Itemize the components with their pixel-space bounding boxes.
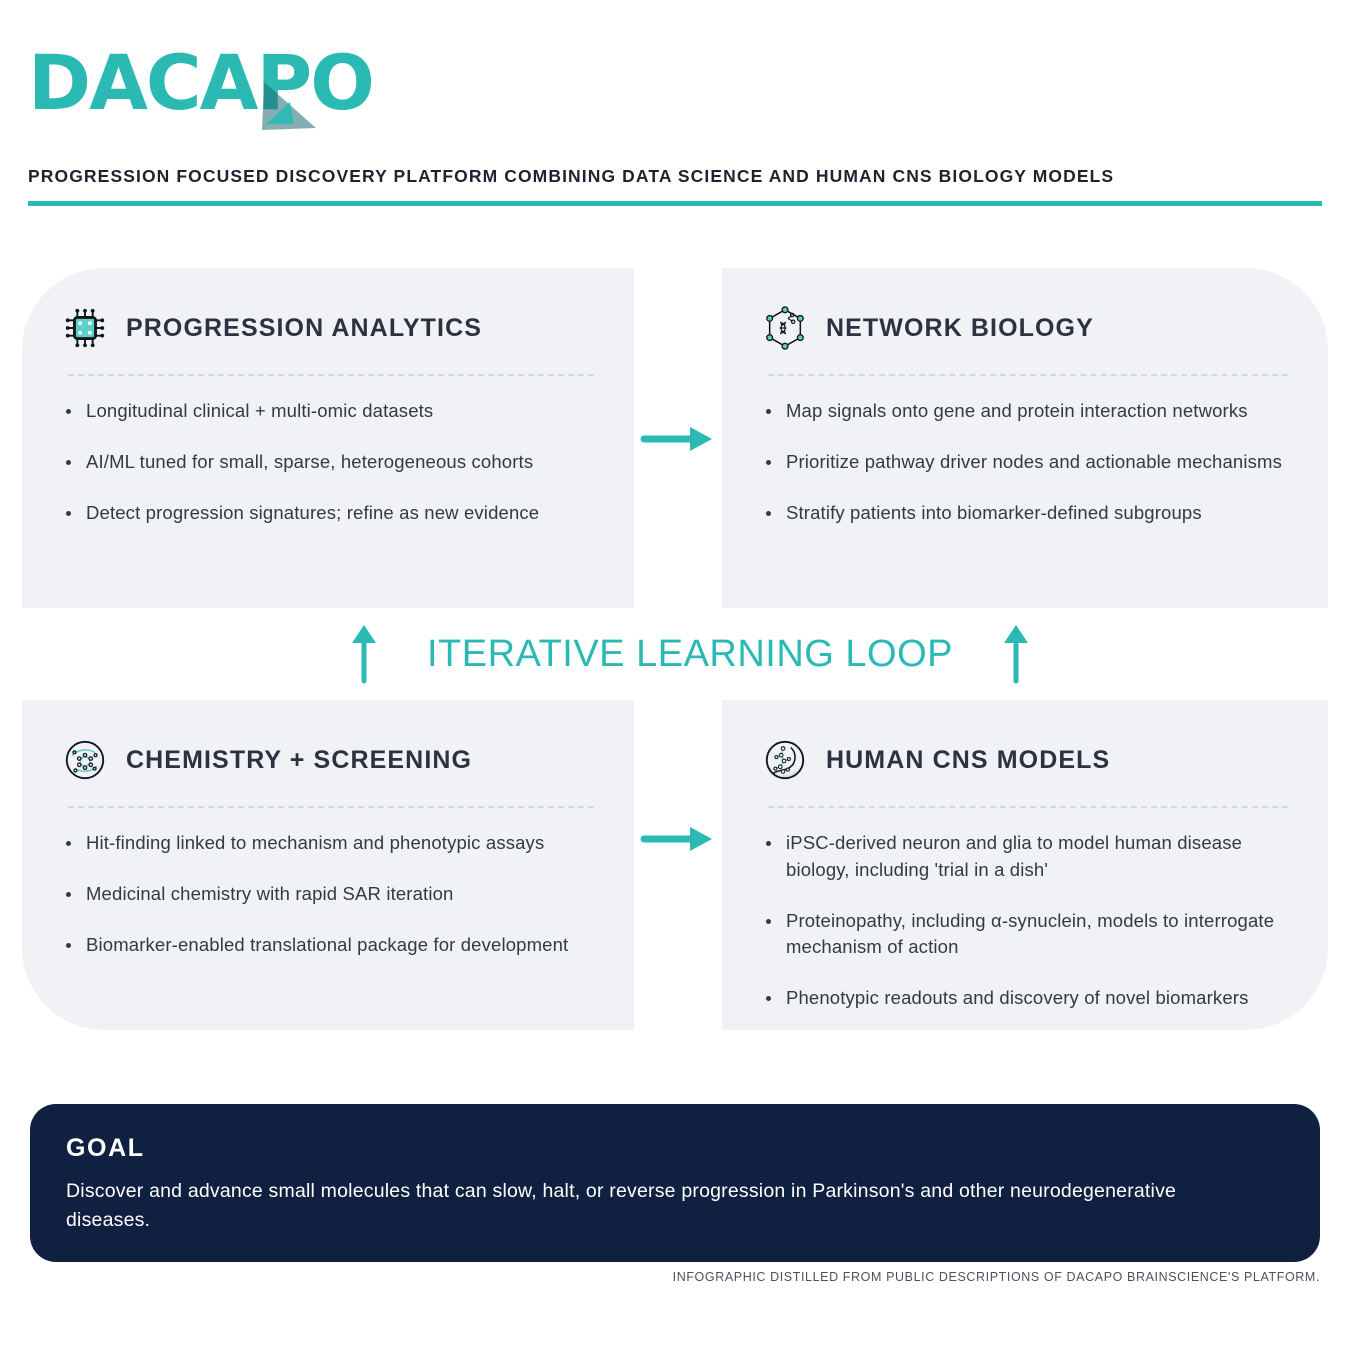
microchip-icon <box>62 305 108 351</box>
goal-body: Discover and advance small molecules tha… <box>66 1177 1246 1236</box>
brand-logo: DACAPO <box>28 28 448 138</box>
petri-dish-molecule-icon <box>62 737 108 783</box>
list-item: Prioritize pathway driver nodes and acti… <box>762 449 1288 476</box>
list-item: iPSC-derived neuron and glia to model hu… <box>762 830 1288 884</box>
card-title: HUMAN CNS MODELS <box>826 746 1110 775</box>
list-item: Hit-finding linked to mechanism and phen… <box>62 830 594 857</box>
footnote: INFOGRAPHIC DISTILLED FROM PUBLIC DESCRI… <box>673 1270 1320 1284</box>
card-bullet-list: Longitudinal clinical + multi-omic datas… <box>62 398 594 526</box>
card-divider <box>68 374 594 376</box>
list-item: Phenotypic readouts and discovery of nov… <box>762 985 1288 1012</box>
card-header: NETWORK BIOLOGY <box>762 302 1288 354</box>
network-hexagon-dna-icon <box>762 305 808 351</box>
arrow-up-icon <box>349 623 379 685</box>
card-divider <box>68 806 594 808</box>
card-divider <box>768 806 1288 808</box>
card-bullet-list: Map signals onto gene and protein intera… <box>762 398 1288 526</box>
card-network-biology: NETWORK BIOLOGY Map signals onto gene an… <box>722 268 1328 608</box>
card-progression-analytics: PROGRESSION ANALYTICS Longitudinal clini… <box>22 268 634 608</box>
card-title: NETWORK BIOLOGY <box>826 314 1094 343</box>
list-item: Biomarker-enabled translational package … <box>62 932 594 959</box>
page-subtitle: PROGRESSION FOCUSED DISCOVERY PLATFORM C… <box>28 166 1322 187</box>
list-item: Stratify patients into biomarker-defined… <box>762 500 1288 527</box>
arrow-right-icon <box>640 422 718 456</box>
card-divider <box>768 374 1288 376</box>
brand-wordmark: DACAPO <box>28 28 448 138</box>
card-chemistry-screening: CHEMISTRY + SCREENING Hit-finding linked… <box>22 700 634 1030</box>
arrow-up-icon <box>1001 623 1031 685</box>
card-bullet-list: iPSC-derived neuron and glia to model hu… <box>762 830 1288 1012</box>
infographic-page: DACAPO PROGRESSION FOCUSED DISCOVERY PLA… <box>0 0 1350 1350</box>
list-item: Detect progression signatures; refine as… <box>62 500 594 527</box>
card-human-cns-models: HUMAN CNS MODELS iPSC-derived neuron and… <box>722 700 1328 1030</box>
card-header: HUMAN CNS MODELS <box>762 734 1288 786</box>
card-title: CHEMISTRY + SCREENING <box>126 746 472 775</box>
header-subtitle-block: PROGRESSION FOCUSED DISCOVERY PLATFORM C… <box>28 166 1322 206</box>
goal-panel: GOAL Discover and advance small molecule… <box>30 1104 1320 1262</box>
header-rule <box>28 201 1322 206</box>
card-header: CHEMISTRY + SCREENING <box>62 734 594 786</box>
iterative-learning-loop: ITERATIVE LEARNING LOOP <box>300 612 1080 696</box>
list-item: Proteinopathy, including α-synuclein, mo… <box>762 908 1288 962</box>
list-item: AI/ML tuned for small, sparse, heterogen… <box>62 449 594 476</box>
list-item: Medicinal chemistry with rapid SAR itera… <box>62 881 594 908</box>
brain-neuron-circle-icon <box>762 737 808 783</box>
card-bullet-list: Hit-finding linked to mechanism and phen… <box>62 830 594 958</box>
arrow-right-icon <box>640 822 718 856</box>
list-item: Longitudinal clinical + multi-omic datas… <box>62 398 594 425</box>
card-title: PROGRESSION ANALYTICS <box>126 314 482 343</box>
goal-title: GOAL <box>66 1134 1284 1163</box>
loop-label: ITERATIVE LEARNING LOOP <box>427 633 953 676</box>
list-item: Map signals onto gene and protein intera… <box>762 398 1288 425</box>
card-header: PROGRESSION ANALYTICS <box>62 302 594 354</box>
